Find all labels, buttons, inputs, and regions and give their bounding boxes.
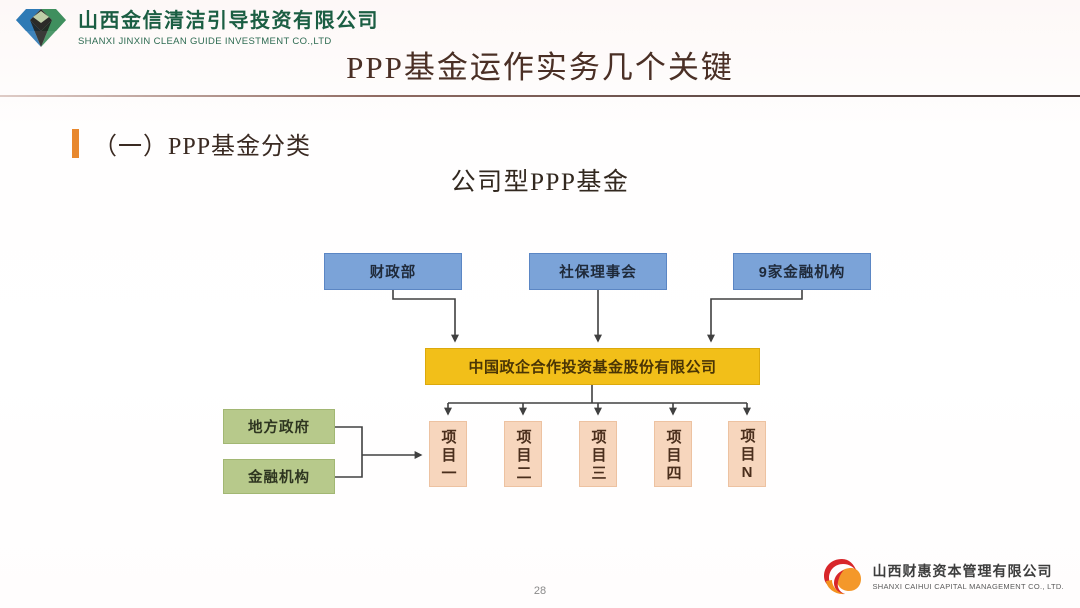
node-label: 地方政府	[248, 416, 310, 437]
header-divider	[0, 95, 1080, 97]
section-heading: （一）PPP基金分类	[72, 126, 311, 161]
node-label: 9家金融机构	[759, 261, 846, 282]
node-project-2[interactable]: 项目二	[504, 421, 542, 487]
node-social-security-council[interactable]: 社保理事会	[529, 253, 667, 290]
diagram-title: 公司型PPP基金	[0, 162, 1080, 198]
node-project-n[interactable]: 项目N	[728, 421, 766, 487]
company-name-cn: 山西金信清洁引导投资有限公司	[78, 10, 379, 33]
node-project-3[interactable]: 项目三	[579, 421, 617, 487]
node-label: 中国政企合作投资基金股份有限公司	[468, 356, 716, 377]
footer-company-name-en: SHANXI CAIHUI CAPITAL MANAGEMENT CO., LT…	[872, 582, 1064, 591]
node-label: 社保理事会	[559, 261, 637, 282]
node-financial-institution[interactable]: 金融机构	[223, 459, 335, 494]
footer-logo: 山西财惠资本管理有限公司 SHANXI CAIHUI CAPITAL MANAG…	[821, 556, 1064, 598]
node-label: 金融机构	[248, 466, 310, 487]
slide: 山西金信清洁引导投资有限公司 SHANXI JINXIN CLEAN GUIDE…	[0, 0, 1080, 608]
node-label: 项目二	[516, 429, 531, 483]
page-title: PPP基金运作实务几个关键	[0, 42, 1080, 87]
swirl-logo-icon	[821, 556, 863, 598]
company-name-block: 山西金信清洁引导投资有限公司 SHANXI JINXIN CLEAN GUIDE…	[78, 10, 379, 47]
footer-name-block: 山西财惠资本管理有限公司 SHANXI CAIHUI CAPITAL MANAG…	[872, 563, 1064, 591]
node-project-1[interactable]: 项目一	[429, 421, 467, 487]
node-project-4[interactable]: 项目四	[654, 421, 692, 487]
node-label: 项目一	[441, 429, 456, 483]
node-label: 财政部	[370, 261, 417, 282]
section-accent-bar	[72, 129, 79, 158]
node-label: 项目N	[740, 428, 755, 484]
slide-header: 山西金信清洁引导投资有限公司 SHANXI JINXIN CLEAN GUIDE…	[0, 0, 1080, 96]
node-label: 项目三	[591, 429, 606, 483]
node-nine-financial-institutions[interactable]: 9家金融机构	[733, 253, 871, 290]
node-ministry-of-finance[interactable]: 财政部	[324, 253, 462, 290]
node-local-government[interactable]: 地方政府	[223, 409, 335, 444]
footer-company-name-cn: 山西财惠资本管理有限公司	[872, 563, 1064, 580]
node-label: 项目四	[666, 429, 681, 483]
section-heading-label: （一）PPP基金分类	[93, 126, 311, 161]
node-china-ppp-fund[interactable]: 中国政企合作投资基金股份有限公司	[425, 348, 760, 385]
